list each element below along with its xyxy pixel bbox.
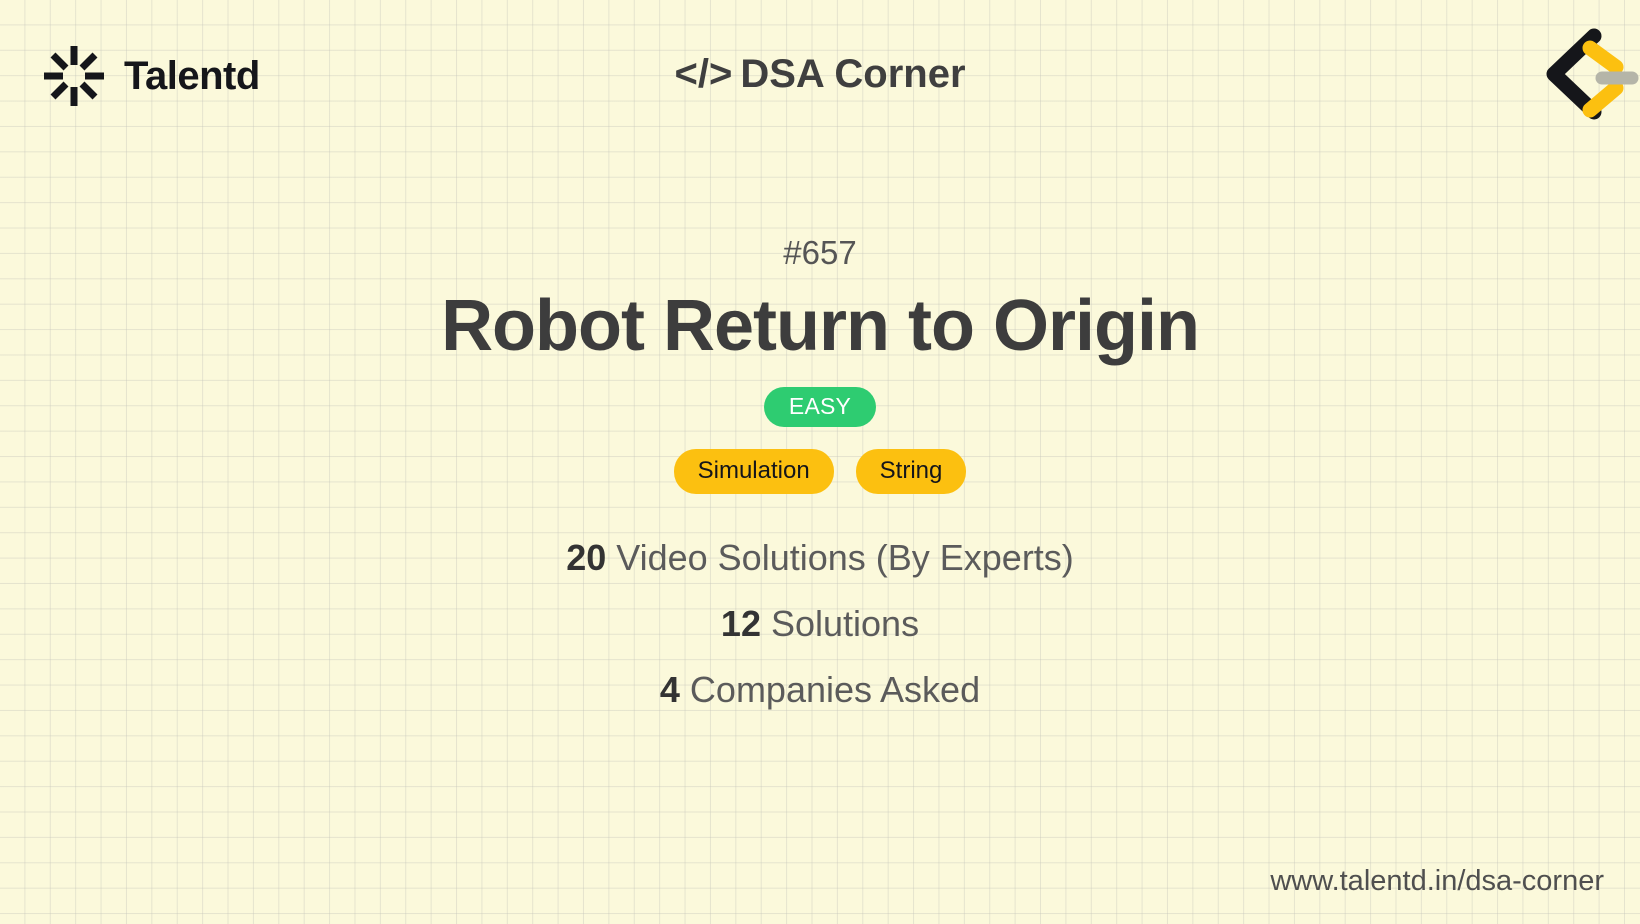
problem-number: #657 (0, 236, 1640, 269)
footer-url[interactable]: www.talentd.in/dsa-corner (1270, 867, 1604, 896)
page-title-text: DSA Corner (740, 52, 965, 96)
dsa-corner-poster: Talentd </>DSA Corner #657 Robot Return … (0, 0, 1640, 924)
tag-pill-string[interactable]: String (856, 449, 967, 494)
page-title: </>DSA Corner (0, 52, 1640, 97)
status-badge: EASY (764, 387, 876, 427)
stat-solutions-label: Solutions (761, 603, 919, 644)
stat-video-solutions-label: Video Solutions (By Experts) (606, 537, 1074, 578)
problem-title: Robot Return to Origin (0, 289, 1640, 365)
stat-companies-asked-label: Companies Asked (680, 669, 980, 710)
stat-solutions: 12 Solutions (0, 606, 1640, 642)
poster-header: Talentd </>DSA Corner (0, 0, 1640, 150)
tag-list: Simulation String (0, 449, 1640, 494)
stat-companies-asked: 4 Companies Asked (0, 672, 1640, 708)
stat-companies-asked-value: 4 (660, 669, 680, 710)
tag-pill-simulation[interactable]: Simulation (674, 449, 834, 494)
stat-video-solutions-value: 20 (566, 537, 606, 578)
difficulty-row: EASY (0, 387, 1640, 427)
code-tag-icon: </> (674, 52, 732, 96)
stat-solutions-value: 12 (721, 603, 761, 644)
stats-list: 20 Video Solutions (By Experts) 12 Solut… (0, 540, 1640, 708)
problem-card: #657 Robot Return to Origin EASY Simulat… (0, 236, 1640, 708)
stat-video-solutions: 20 Video Solutions (By Experts) (0, 540, 1640, 576)
